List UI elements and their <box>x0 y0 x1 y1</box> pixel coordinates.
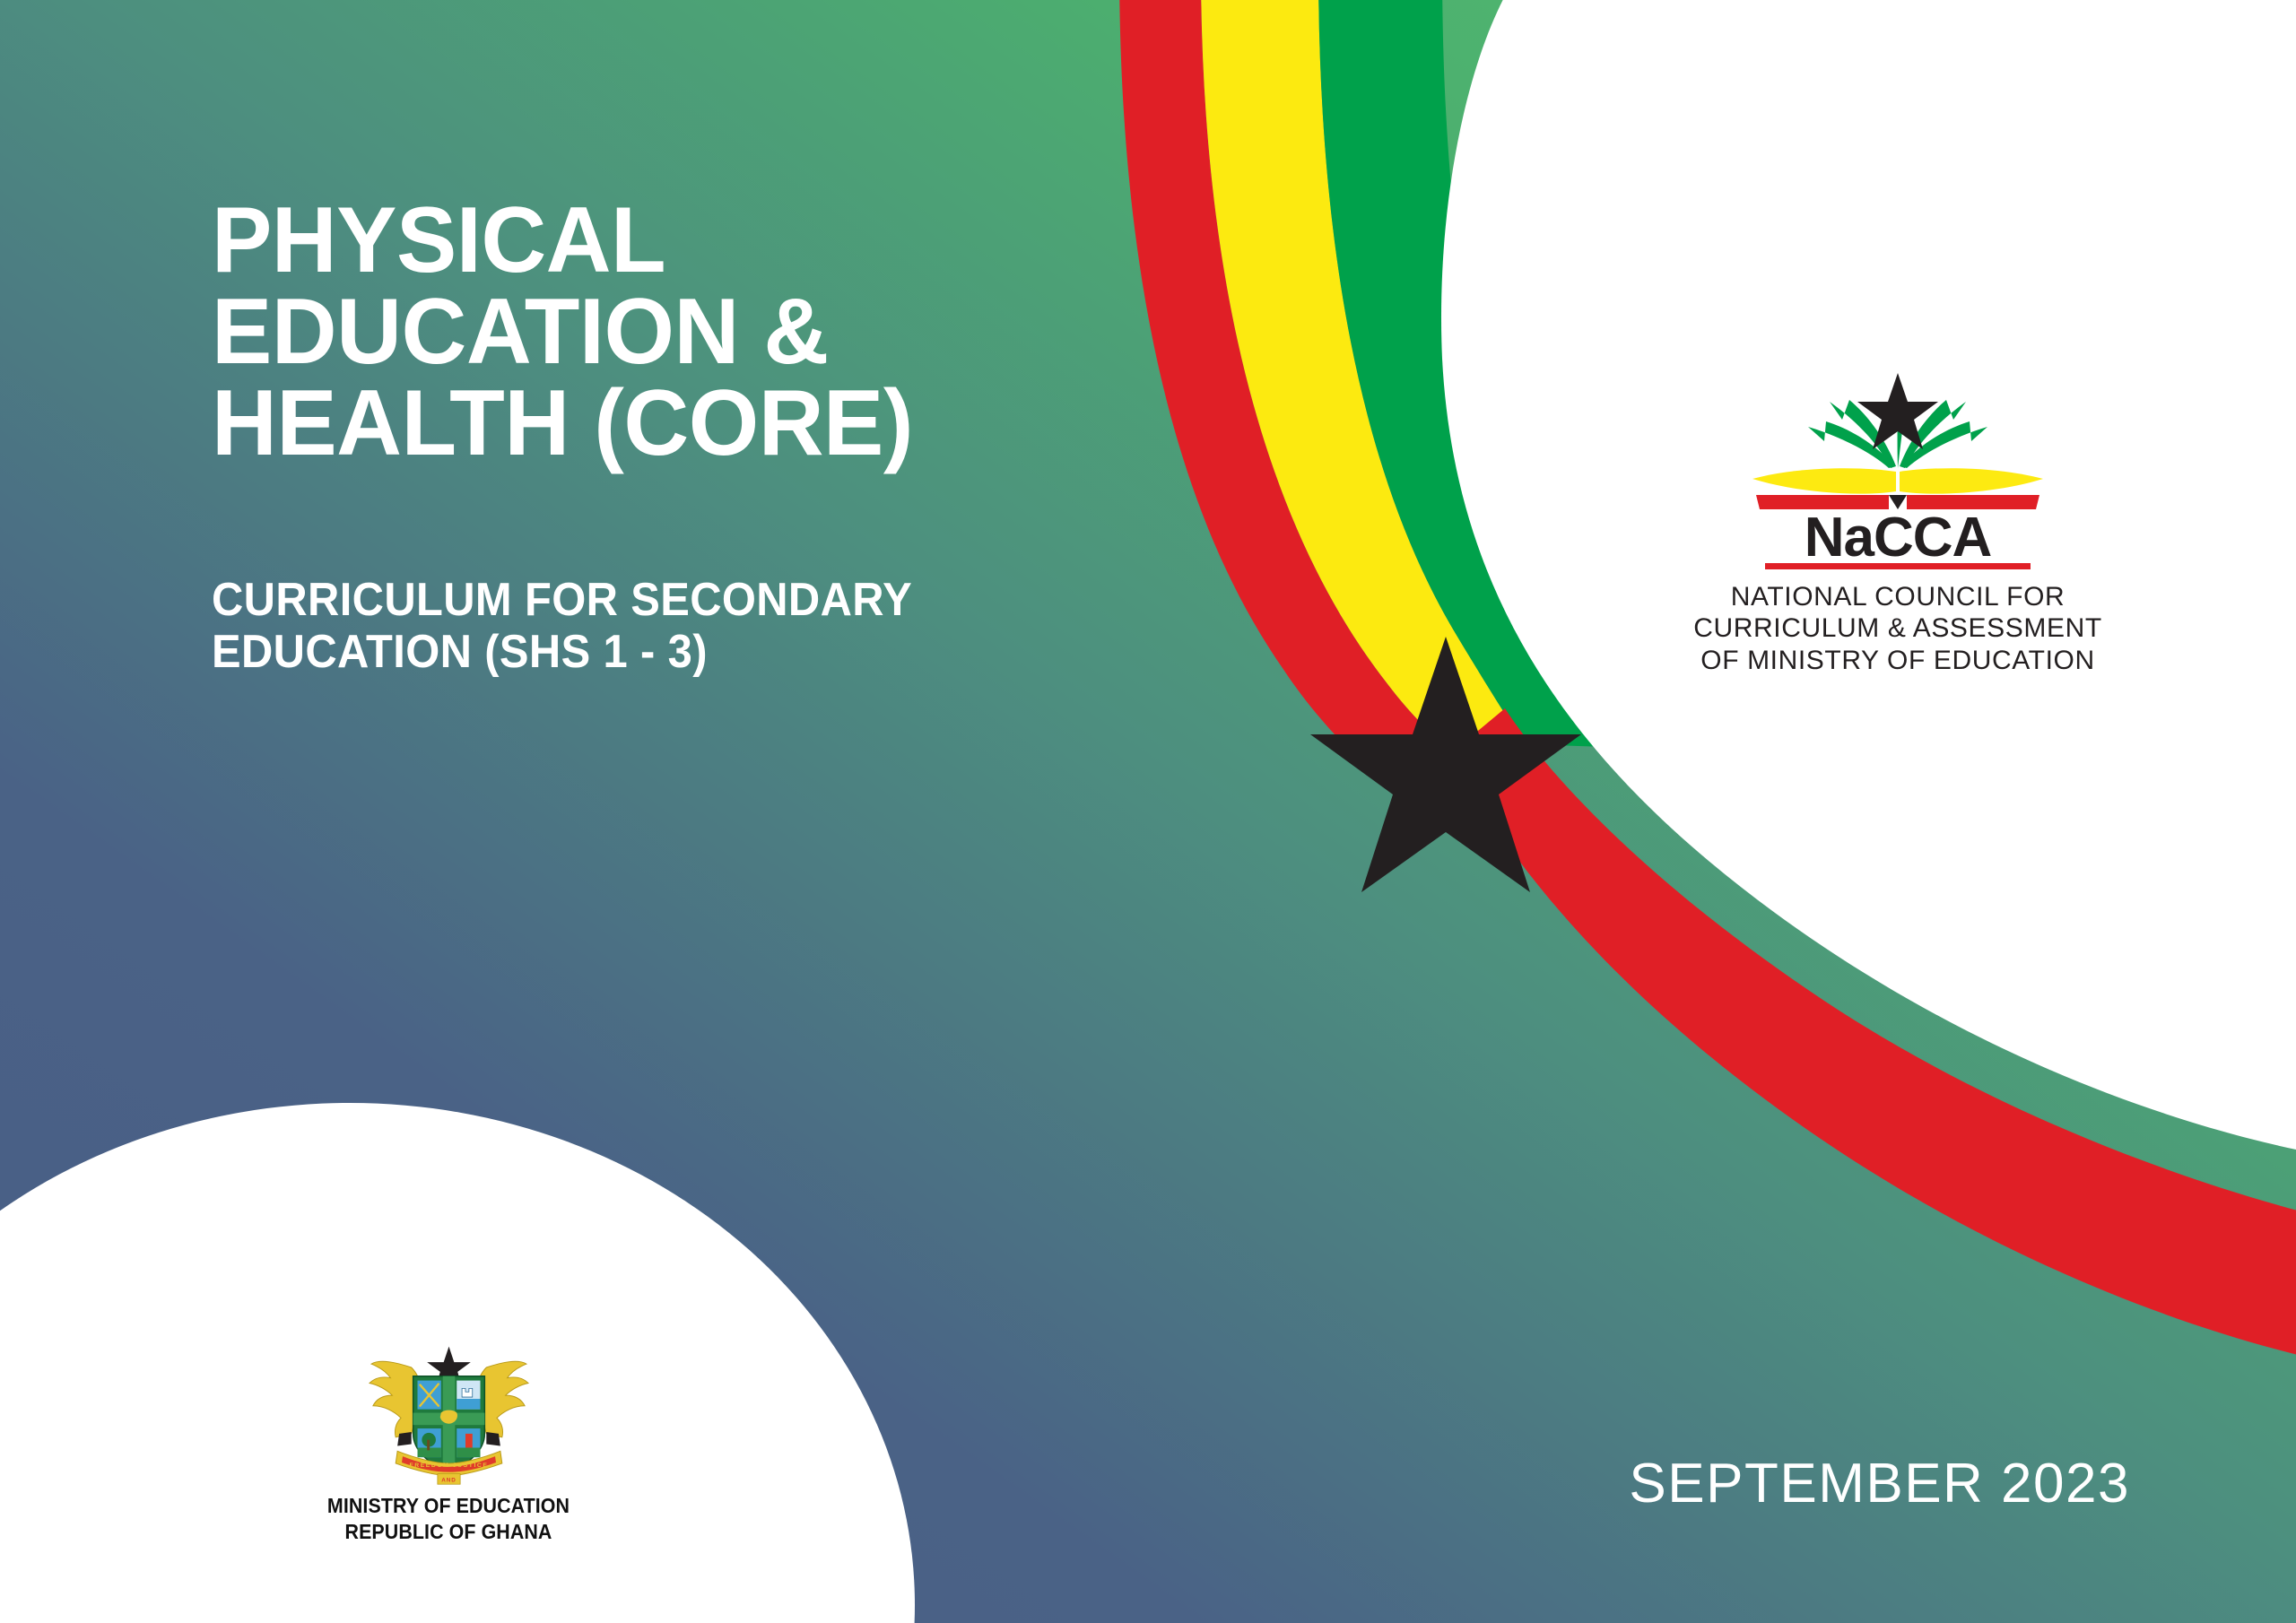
page-subtitle: CURRICULUM FOR SECONDARY EDUCATION (SHS … <box>212 574 1198 678</box>
nacca-wordmark: NaCCA <box>1805 507 1992 568</box>
ministry-seal-line-2: REPUBLIC OF GHANA <box>315 1519 582 1545</box>
nacca-emblem-icon: NaCCA <box>1736 366 2059 572</box>
ghana-coat-of-arms-icon: FREEDOM JUSTICE AND <box>357 1336 541 1493</box>
nacca-sub-line-1: NATIONAL COUNCIL FOR <box>1647 581 2149 612</box>
svg-text:FREEDOM JUSTICE: FREEDOM JUSTICE <box>409 1462 488 1469</box>
nacca-underline <box>1765 563 2031 569</box>
ministry-seal-line-1: MINISTRY OF EDUCATION <box>315 1493 582 1519</box>
title-line-1: PHYSICAL <box>212 195 1256 287</box>
title-line-3: HEALTH (CORE) <box>212 378 1256 470</box>
page-title: PHYSICAL EDUCATION & HEALTH (CORE) <box>212 195 1288 470</box>
title-line-2: EDUCATION & <box>212 287 1256 378</box>
subtitle-line-1: CURRICULUM FOR SECONDARY <box>212 574 1139 626</box>
document-cover: PHYSICAL EDUCATION & HEALTH (CORE) CURRI… <box>0 0 2296 1623</box>
svg-text:AND: AND <box>441 1477 457 1483</box>
nacca-sub-line-3: OF MINISTRY OF EDUCATION <box>1647 645 2149 676</box>
ministry-seal: FREEDOM JUSTICE AND MINISTRY OF EDUCATIO… <box>305 1336 592 1546</box>
yellow-book-pages-icon <box>1752 468 2043 493</box>
nacca-sub-line-2: CURRICULUM & ASSESSMENT <box>1647 612 2149 644</box>
nacca-subtitle: NATIONAL COUNCIL FOR CURRICULUM & ASSESS… <box>1647 581 2149 676</box>
subtitle-line-2: EDUCATION (SHS 1 - 3) <box>212 626 1139 678</box>
publication-date: SEPTEMBER 2023 <box>1629 1452 2130 1515</box>
nacca-logo: NaCCA NATIONAL COUNCIL FOR CURRICULUM & … <box>1647 366 2149 676</box>
